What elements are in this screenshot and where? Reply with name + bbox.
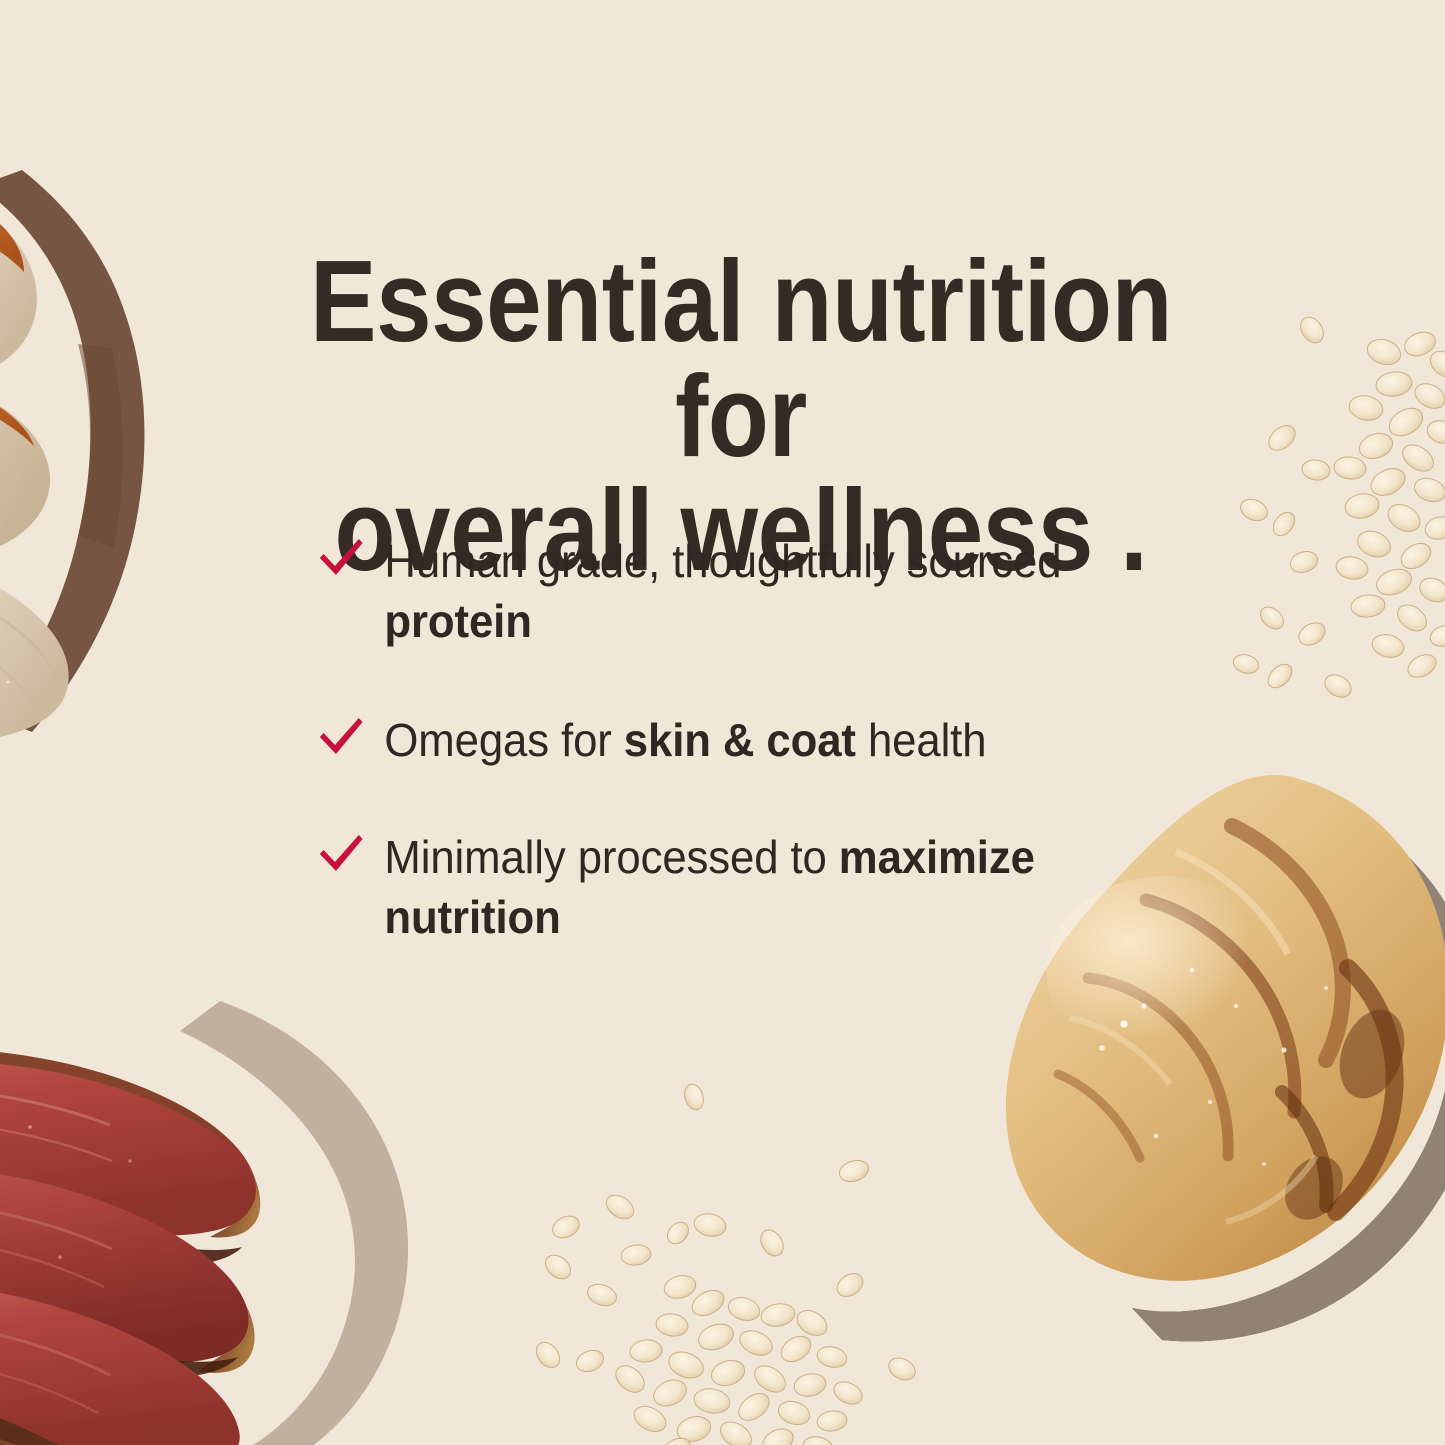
headline-line-1: Essential nutrition for <box>310 236 1172 481</box>
benefit-text-2: Omegas for skin & coat health <box>384 714 986 766</box>
product-benefits-banner: Essential nutrition for overall wellness… <box>0 0 1445 1445</box>
sliced-beef-steak-photo <box>0 985 450 1445</box>
rolled-oats-photo <box>520 1075 940 1445</box>
check-icon <box>316 536 365 580</box>
roast-pork-slices-photo <box>0 176 212 736</box>
list-item: Human grade, thoughtfully sourced protei… <box>316 532 1133 652</box>
benefit-text-3: Minimally processed to maximize nutritio… <box>384 831 1034 943</box>
rolled-oats-photo <box>1216 300 1445 700</box>
list-item: Minimally processed to maximize nutritio… <box>316 828 1133 948</box>
check-icon <box>316 832 365 876</box>
list-item: Omegas for skin & coat health <box>316 711 1133 771</box>
benefit-text-1: Human grade, thoughtfully sourced protei… <box>384 535 1061 647</box>
benefits-list: Human grade, thoughtfully sourced protei… <box>316 532 1176 948</box>
check-icon <box>316 715 365 759</box>
